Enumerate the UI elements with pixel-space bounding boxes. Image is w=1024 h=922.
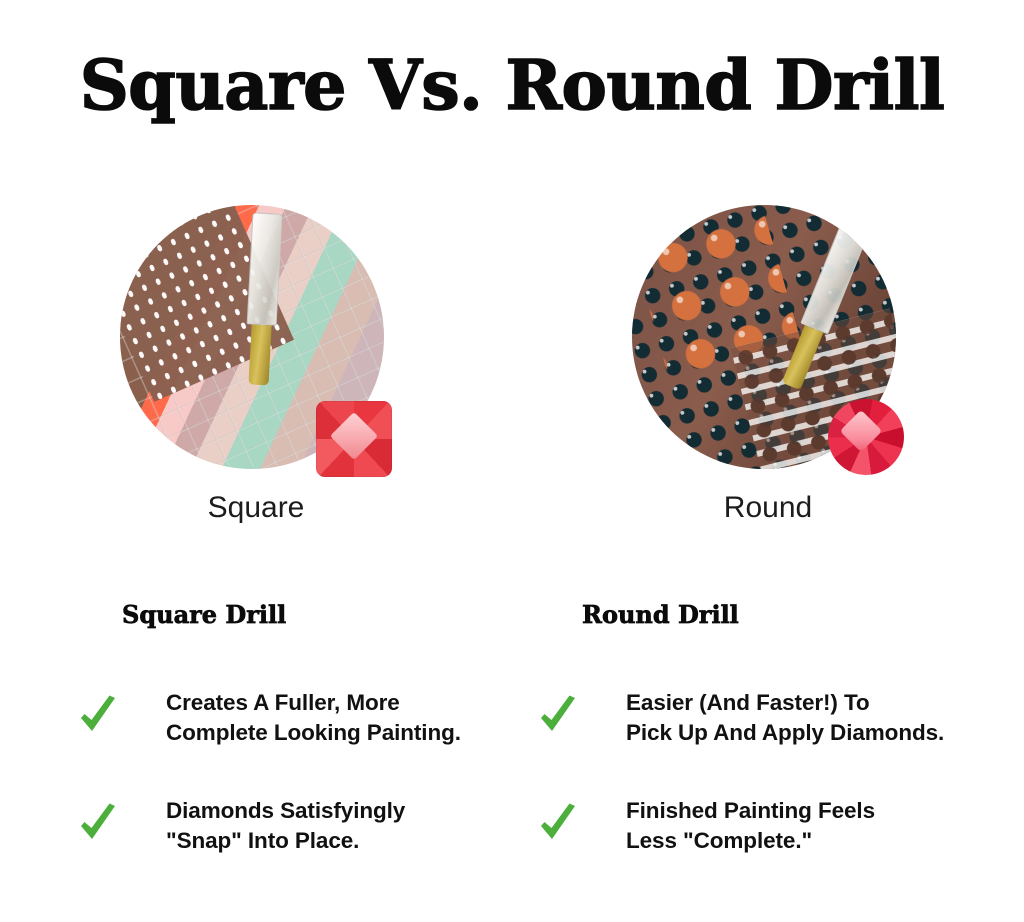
round-drill-column: Round Drill Easier (And Faster!) To Pick… bbox=[582, 600, 1024, 904]
list-item: Easier (And Faster!) To Pick Up And Appl… bbox=[582, 688, 1024, 750]
square-photo-wrapper bbox=[120, 205, 392, 477]
square-drill-heading: Square Drill bbox=[122, 600, 582, 630]
check-icon bbox=[78, 694, 118, 738]
list-item: Diamonds Satisfyingly "Snap" Into Place. bbox=[122, 796, 582, 858]
check-icon bbox=[538, 802, 578, 846]
square-gem-closeup bbox=[316, 401, 392, 477]
square-photo-column: Square bbox=[0, 205, 512, 480]
square-drill-column: Square Drill Creates A Fuller, More Comp… bbox=[122, 600, 582, 904]
pen-barrel bbox=[247, 212, 283, 325]
check-icon bbox=[538, 694, 578, 738]
list-item: Creates A Fuller, More Complete Looking … bbox=[122, 688, 582, 750]
round-photo-caption: Round bbox=[512, 491, 1024, 525]
list-item-text: Finished Painting Feels Less "Complete." bbox=[626, 798, 875, 853]
round-gem-closeup bbox=[828, 399, 904, 475]
round-photo-wrapper bbox=[632, 205, 904, 477]
feature-columns: Square Drill Creates A Fuller, More Comp… bbox=[0, 600, 1024, 900]
comparison-photo-row: Square Round bbox=[0, 205, 1024, 480]
round-drill-heading: Round Drill bbox=[582, 600, 1024, 630]
round-photo-column: Round bbox=[512, 205, 1024, 480]
list-item-text: Easier (And Faster!) To Pick Up And Appl… bbox=[626, 690, 944, 745]
check-icon bbox=[78, 802, 118, 846]
page-title: Square Vs. Round Drill bbox=[0, 48, 1024, 124]
square-photo-caption: Square bbox=[0, 491, 512, 525]
list-item-text: Creates A Fuller, More Complete Looking … bbox=[166, 690, 461, 745]
list-item-text: Diamonds Satisfyingly "Snap" Into Place. bbox=[166, 798, 405, 853]
list-item: Finished Painting Feels Less "Complete." bbox=[582, 796, 1024, 858]
pen-wax-tip bbox=[249, 324, 272, 385]
